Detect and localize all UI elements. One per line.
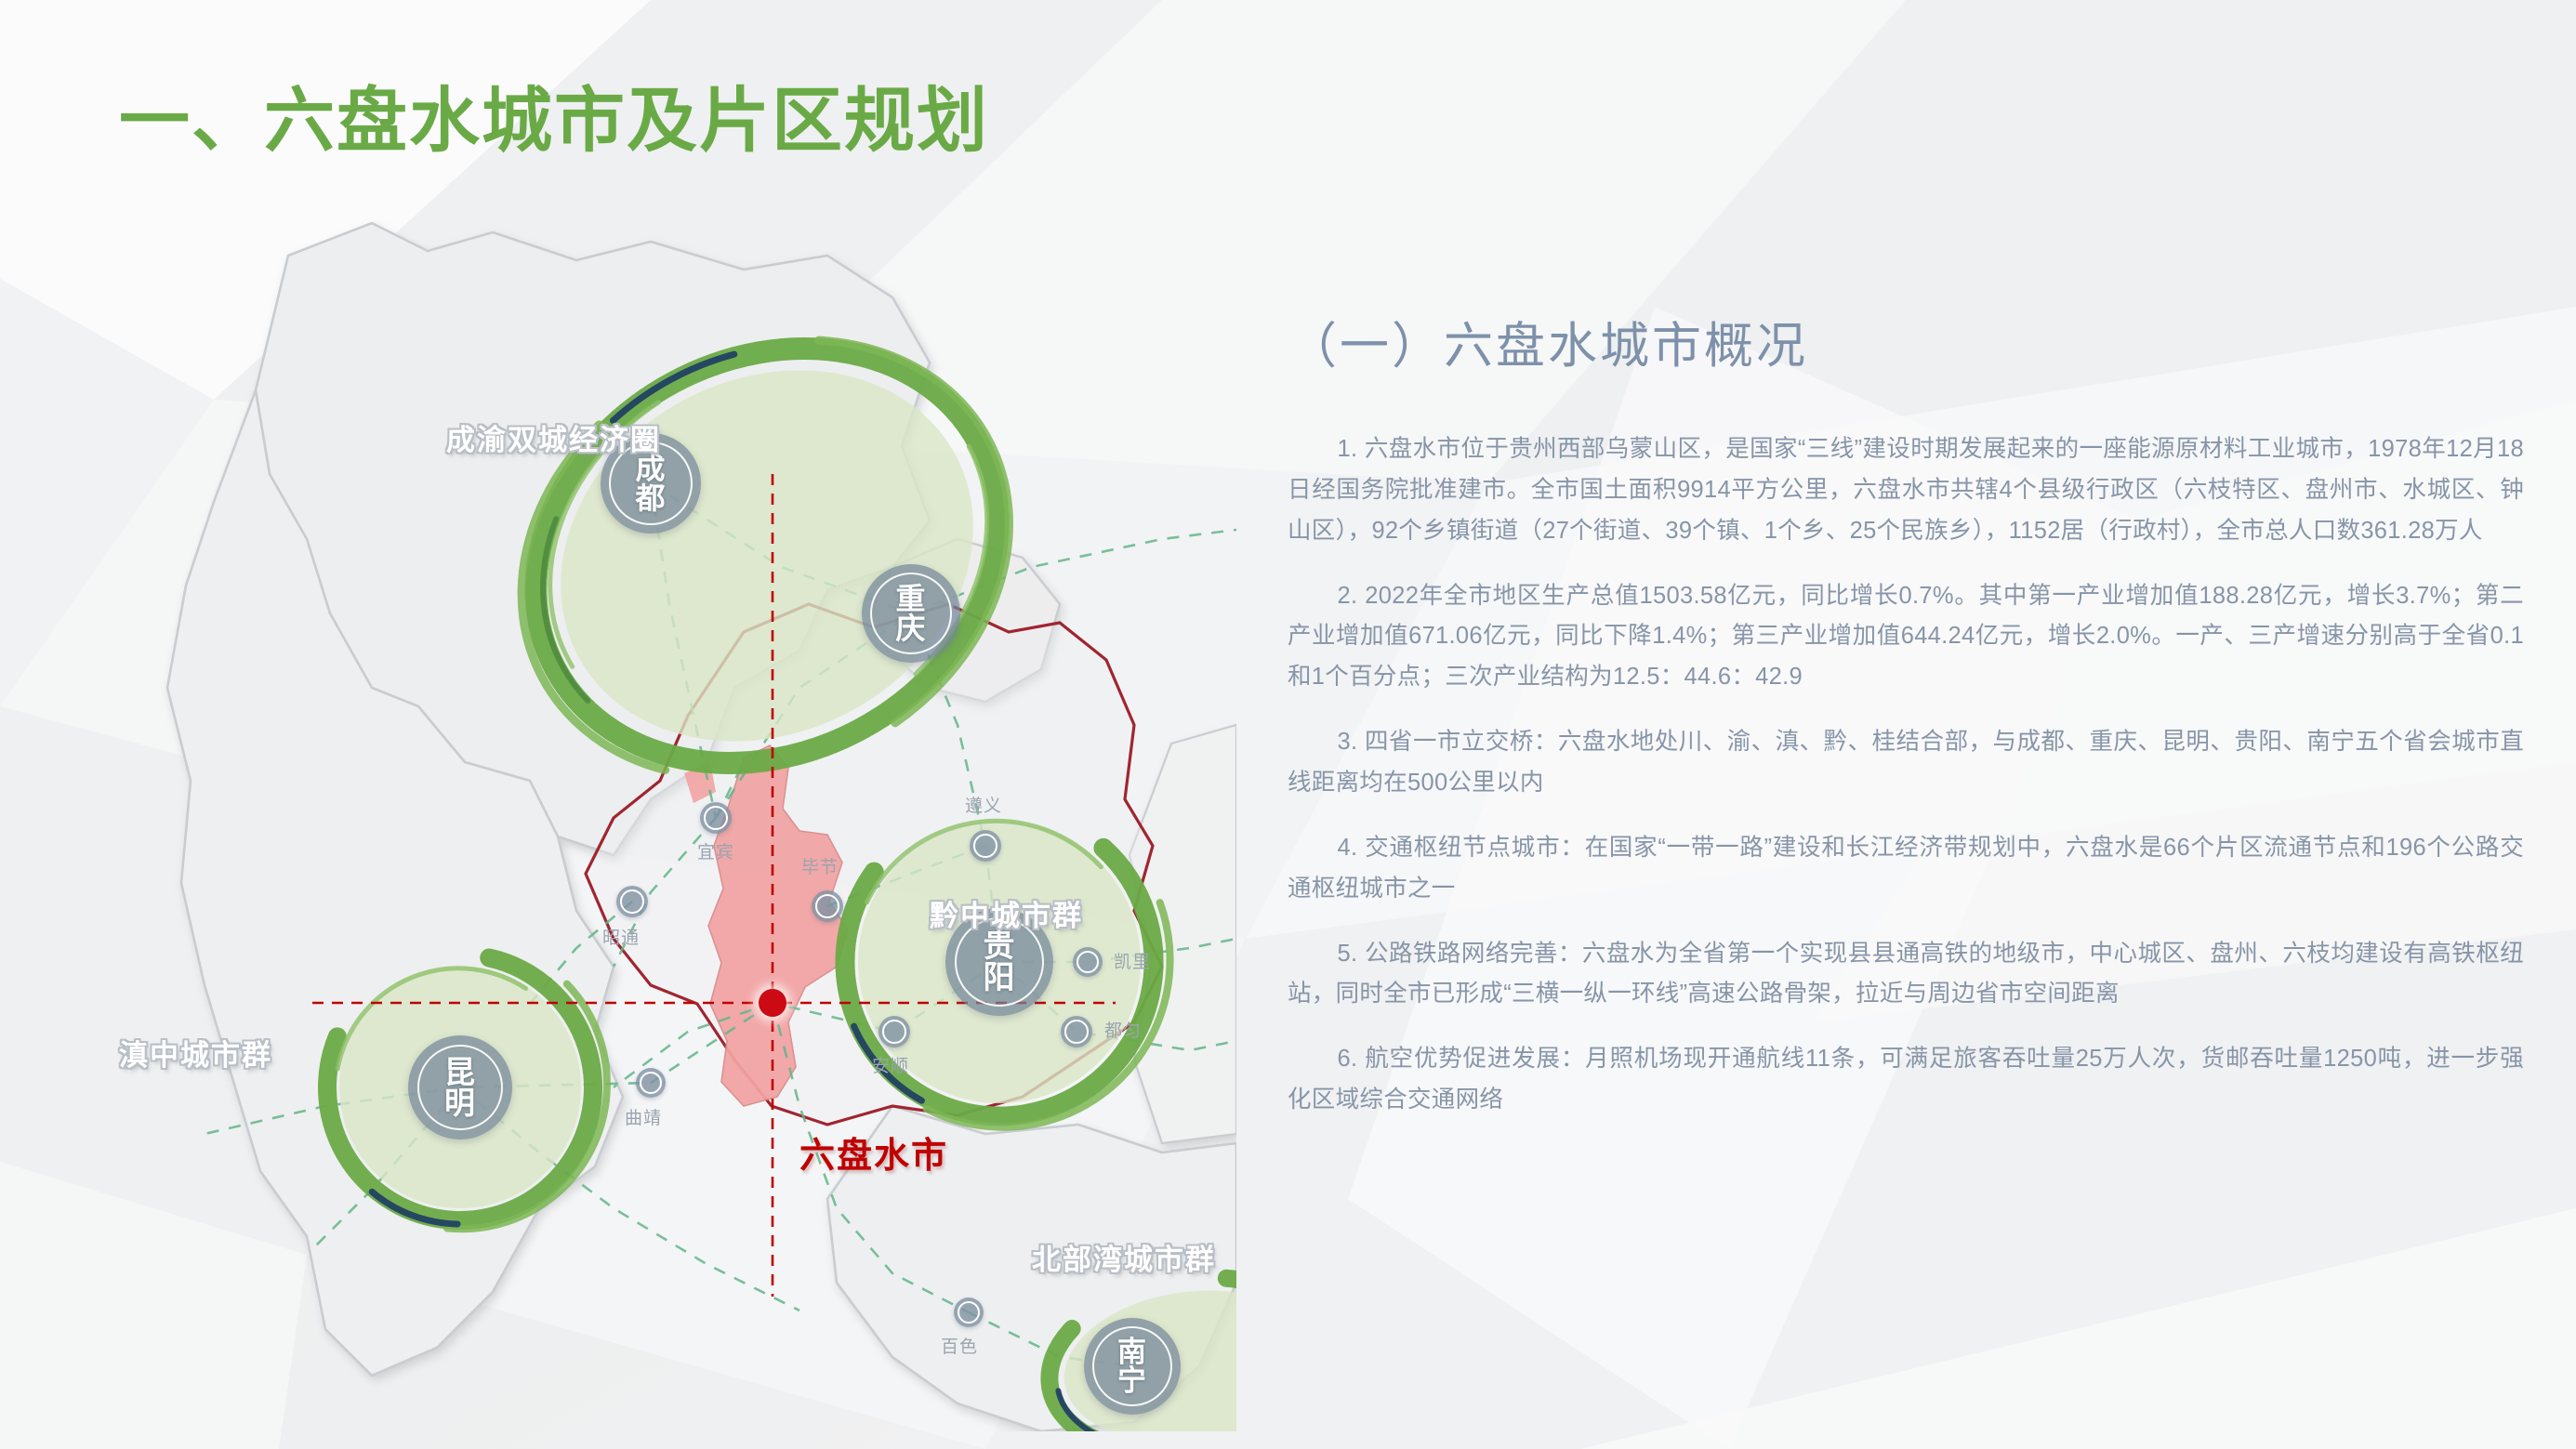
- node-zunyi[interactable]: [970, 830, 1001, 862]
- node-ring: [815, 894, 839, 918]
- paragraph-4: 4. 交通枢纽节点城市：在国家“一带一路”建设和长江经济带规划中，六盘水是66个…: [1288, 828, 2524, 910]
- node-ring: [640, 1072, 662, 1094]
- node-label-yibin: 宜宾: [697, 838, 734, 863]
- hub-label: 重庆: [894, 584, 928, 643]
- node-label-bijie: 毕节: [801, 853, 839, 878]
- region-map: 成渝双城经济圈 黔中城市群 滇中城市群 北部湾城市群 成都 重庆 贵阳 昆明 南…: [93, 167, 1236, 1431]
- focus-city-label: 六盘水市: [799, 1126, 948, 1178]
- node-label-qujing: 曲靖: [625, 1104, 662, 1129]
- paragraph-6: 6. 航空优势促进发展：月照机场现开通航线11条，可满足旅客吞吐量25万人次，货…: [1288, 1039, 2524, 1121]
- node-ring: [1064, 1020, 1089, 1044]
- hub-guiyang[interactable]: 贵阳: [945, 908, 1053, 1016]
- hub-label: 昆明: [443, 1057, 478, 1118]
- node-zhaotong[interactable]: [616, 886, 648, 917]
- hub-label: 南宁: [1116, 1337, 1149, 1395]
- paragraph-2: 2. 2022年全市地区生产总值1503.58亿元，同比增长0.7%。其中第一产…: [1288, 576, 2524, 699]
- hub-label: 贵阳: [982, 930, 1017, 994]
- node-label-zhaotong: 昭通: [602, 924, 640, 949]
- node-ring: [882, 1020, 906, 1044]
- hub-kunming[interactable]: 昆明: [408, 1035, 512, 1139]
- node-qujing[interactable]: [636, 1068, 666, 1098]
- node-kaili[interactable]: [1073, 947, 1103, 977]
- node-label-zunyi: 遵义: [965, 792, 1002, 817]
- map-vector-layer: [93, 167, 1236, 1431]
- node-ring: [1077, 951, 1099, 973]
- overview-panel: （一）六盘水城市概况 1. 六盘水市位于贵州西部乌蒙山区，是国家“三线”建设时期…: [1288, 307, 2524, 1145]
- hub-label: 成都: [634, 454, 667, 513]
- hub-chengdu[interactable]: 成都: [601, 433, 701, 533]
- hub-chongqing[interactable]: 重庆: [862, 564, 960, 663]
- paragraph-5: 5. 公路铁路网络完善：六盘水为全省第一个实现县县通高铁的地级市，中心城区、盘州…: [1288, 934, 2524, 1016]
- node-anshun[interactable]: [878, 1016, 910, 1047]
- section-heading: （一）六盘水城市概况: [1288, 307, 2524, 377]
- node-bijie[interactable]: [812, 890, 843, 922]
- node-ring: [620, 889, 644, 914]
- node-ring: [973, 834, 997, 858]
- hub-nanning[interactable]: 南宁: [1084, 1318, 1181, 1415]
- node-label-anshun: 安顺: [872, 1052, 909, 1077]
- node-label-kaili: 凯里: [1114, 948, 1151, 973]
- node-duyun[interactable]: [1061, 1016, 1092, 1047]
- node-baise[interactable]: [954, 1298, 984, 1327]
- node-ring: [704, 806, 728, 830]
- paragraph-1: 1. 六盘水市位于贵州西部乌蒙山区，是国家“三线”建设时期发展起来的一座能源原材…: [1288, 429, 2524, 552]
- page-title: 一、六盘水城市及片区规划: [119, 86, 989, 157]
- focus-city-marker[interactable]: [759, 989, 786, 1017]
- node-yibin[interactable]: [700, 802, 732, 834]
- node-label-duyun: 都匀: [1104, 1017, 1142, 1042]
- node-ring: [958, 1301, 980, 1324]
- paragraph-3: 3. 四省一市立交桥：六盘水地处川、渝、滇、黔、桂结合部，与成都、重庆、昆明、贵…: [1288, 722, 2524, 804]
- node-label-baise: 百色: [941, 1333, 978, 1358]
